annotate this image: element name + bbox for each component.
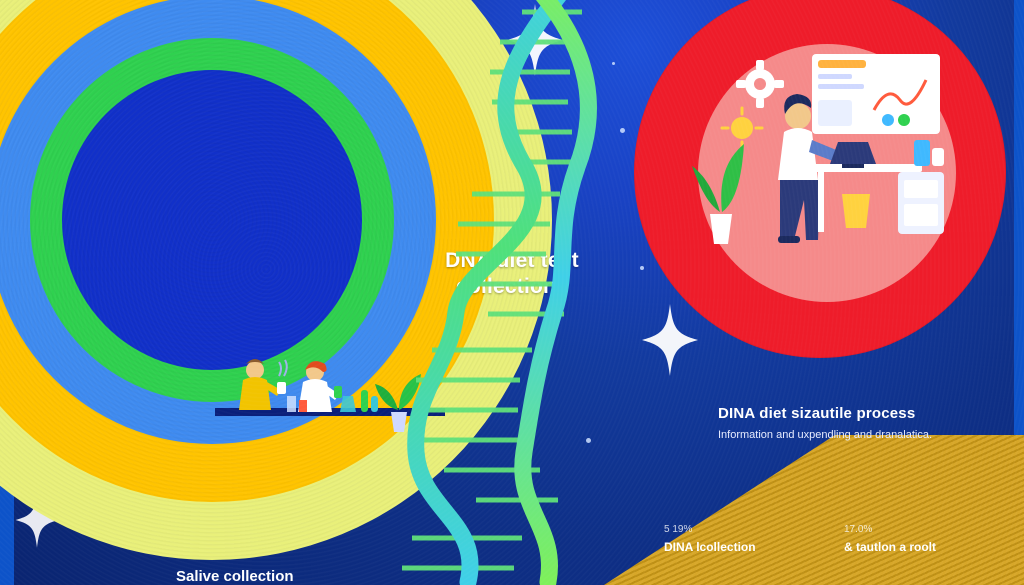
red-circle-graphic [634,0,1006,358]
legend: 5 19% 17.0% DINA lcollection & tautlon a… [664,524,1016,554]
legend-labels: DINA lcollection & tautlon a roolt [664,540,1016,554]
legend-value-1: 5 19% [664,524,814,535]
bin-icon [842,194,870,228]
dna-double-helix [372,0,672,585]
right-title: DINA diet sizautile process [718,405,1008,422]
chart-board [812,54,940,134]
legend-label-2: & tautlon a roolt [844,540,1004,554]
desk-scene-illustration [692,44,962,294]
right-subtitle: Information and uxpendling and dranalati… [718,428,1018,443]
legend-label-1: DINA lcollection [664,540,814,554]
plant-icon [692,144,744,244]
legend-values: 5 19% 17.0% [664,524,1016,535]
legend-value-2: 17.0% [844,524,1004,535]
cabinet [898,140,944,234]
gear-icon [736,60,784,108]
illustration-canvas: DNA diet test collections [0,0,1024,585]
scientist-left [239,359,287,410]
sun-icon [722,108,762,148]
